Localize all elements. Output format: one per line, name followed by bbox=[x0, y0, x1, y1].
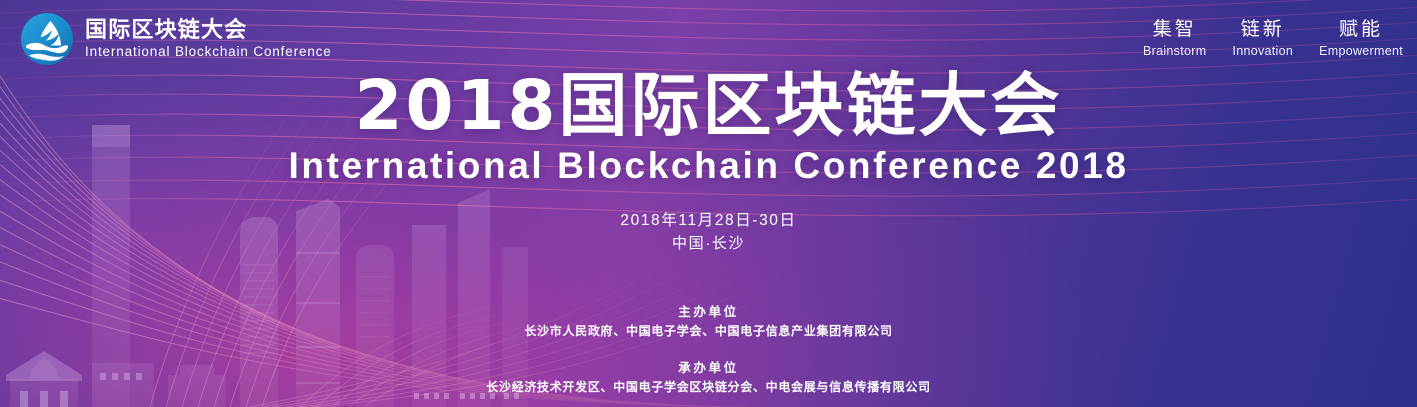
coorganizer-names: 长沙经济技术开发区、中国电子学会区块链分会、中电会展与信息传播有限公司 bbox=[0, 378, 1417, 397]
conference-banner: 国际区块链大会 International Blockchain Confere… bbox=[0, 0, 1417, 407]
slogan-item-empowerment: 赋能 Empowerment bbox=[1319, 18, 1403, 59]
main-title-cn: 2018国际区块链大会 bbox=[0, 72, 1417, 141]
headline-block: 2018国际区块链大会 International Blockchain Con… bbox=[0, 72, 1417, 186]
organizer-group-host: 主办单位 长沙市人民政府、中国电子学会、中国电子信息产业集团有限公司 bbox=[0, 303, 1417, 342]
organizer-label: 主办单位 bbox=[0, 303, 1417, 322]
slogan-en: Brainstorm bbox=[1143, 43, 1206, 59]
slogan-cn: 赋能 bbox=[1319, 18, 1403, 42]
slogan-en: Innovation bbox=[1232, 43, 1293, 59]
coorganizer-label: 承办单位 bbox=[0, 359, 1417, 378]
organizer-block: 主办单位 长沙市人民政府、中国电子学会、中国电子信息产业集团有限公司 承办单位 … bbox=[0, 303, 1417, 397]
event-date: 2018年11月28日-30日 bbox=[0, 209, 1417, 232]
conference-logo[interactable]: 国际区块链大会 International Blockchain Confere… bbox=[20, 12, 332, 66]
sailboat-wave-circle-logo-icon bbox=[20, 12, 74, 66]
event-datetime-block: 2018年11月28日-30日 中国·长沙 bbox=[0, 209, 1417, 256]
slogan-en: Empowerment bbox=[1319, 43, 1403, 59]
main-title-en: International Blockchain Conference 2018 bbox=[0, 147, 1417, 186]
organizer-group-coorganizer: 承办单位 长沙经济技术开发区、中国电子学会区块链分会、中电会展与信息传播有限公司 bbox=[0, 359, 1417, 398]
slogan-cn: 集智 bbox=[1143, 18, 1206, 42]
slogan-group: 集智 Brainstorm 链新 Innovation 赋能 Empowerme… bbox=[1143, 18, 1403, 59]
logo-title-cn: 国际区块链大会 bbox=[85, 18, 332, 43]
slogan-item-brainstorm: 集智 Brainstorm bbox=[1143, 18, 1206, 59]
slogan-item-innovation: 链新 Innovation bbox=[1232, 18, 1293, 59]
organizer-names: 长沙市人民政府、中国电子学会、中国电子信息产业集团有限公司 bbox=[0, 322, 1417, 341]
event-place: 中国·长沙 bbox=[0, 232, 1417, 256]
logo-title-en: International Blockchain Conference bbox=[85, 44, 332, 60]
slogan-cn: 链新 bbox=[1232, 18, 1293, 42]
